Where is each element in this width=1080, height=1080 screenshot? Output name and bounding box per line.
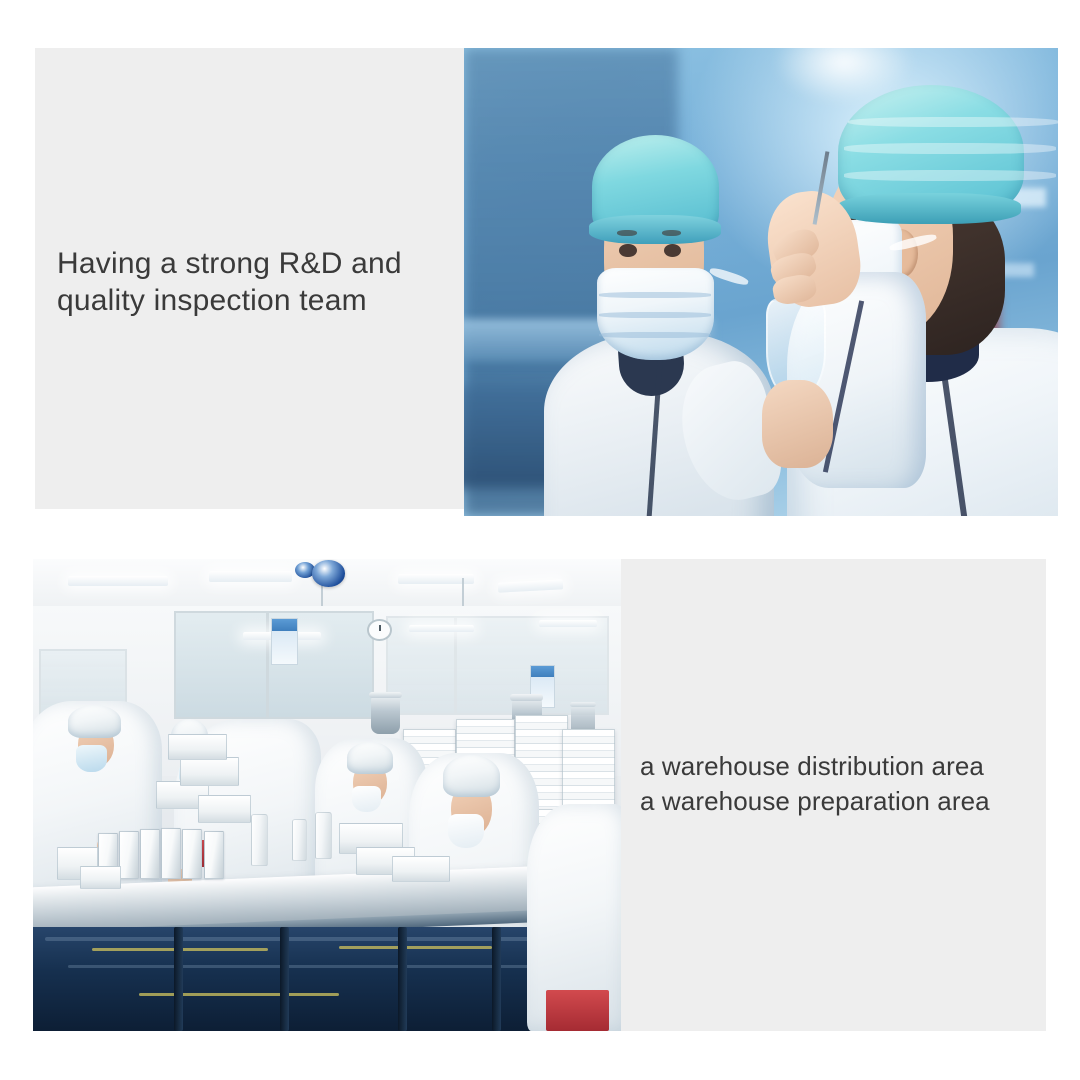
top-section: Having a strong R&D and quality inspecti… [35,48,1058,516]
bottom-section: a warehouse distribution area a warehous… [33,559,1046,1031]
top-caption-text: Having a strong R&D and quality inspecti… [57,245,457,319]
top-caption-panel: Having a strong R&D and quality inspecti… [35,48,464,509]
bottom-caption-panel: a warehouse distribution area a warehous… [621,559,1046,1031]
warehouse-packing-photo [33,559,621,1031]
rd-quality-inspection-photo [464,48,1058,516]
slide-canvas: Having a strong R&D and quality inspecti… [0,0,1080,1080]
bottom-caption-text: a warehouse distribution area a warehous… [640,749,1050,819]
